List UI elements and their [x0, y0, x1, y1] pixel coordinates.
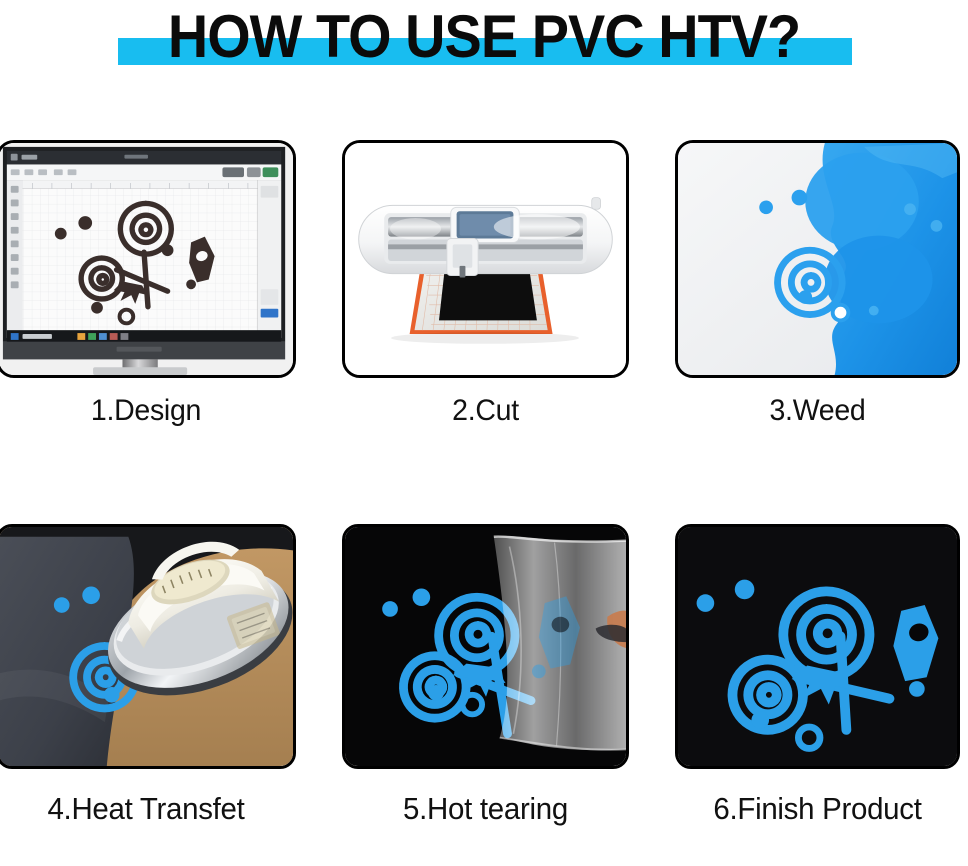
- step-label-finish-product: 6.Finish Product: [682, 791, 953, 827]
- step-photo-heat-transfer: [0, 524, 296, 769]
- steps-row-bottom: 4.Heat Transfet: [0, 524, 968, 866]
- step-label-weed: 3.Weed: [682, 394, 953, 428]
- step-label-design: 1.Design: [4, 394, 289, 428]
- finished-product-icon: [678, 527, 957, 766]
- step-photo-hot-tearing: [342, 524, 629, 769]
- step-card-design[interactable]: 1.Design: [0, 140, 296, 428]
- peeling-carrier-sheet-icon: [345, 527, 626, 766]
- step-label-cut: 2.Cut: [349, 394, 622, 428]
- steps-row-top: 1.Design: [0, 140, 968, 470]
- step-card-finish-product[interactable]: 6.Finish Product: [675, 524, 960, 827]
- vinyl-cutting-machine-icon: [345, 143, 626, 375]
- step-photo-weed: [675, 140, 960, 378]
- step-label-hot-tearing: 5.Hot tearing: [349, 791, 622, 827]
- step-photo-cut: [342, 140, 629, 378]
- step-photo-finish-product: [675, 524, 960, 769]
- step-card-weed[interactable]: 3.Weed: [675, 140, 960, 428]
- step-label-heat-transfer: 4.Heat Transfet: [4, 791, 289, 827]
- step-card-heat-transfer[interactable]: 4.Heat Transfet: [0, 524, 296, 827]
- page-title: HOW TO USE PVC HTV?: [34, 0, 934, 70]
- computer-monitor-design-software-icon: [0, 143, 293, 375]
- step-card-hot-tearing[interactable]: 5.Hot tearing: [342, 524, 629, 827]
- page-header: HOW TO USE PVC HTV?: [0, 0, 968, 100]
- iron-heat-press-icon: [0, 527, 293, 766]
- weeding-blue-vinyl-icon: [678, 143, 957, 375]
- step-card-cut[interactable]: 2.Cut: [342, 140, 629, 428]
- step-photo-design: [0, 140, 296, 378]
